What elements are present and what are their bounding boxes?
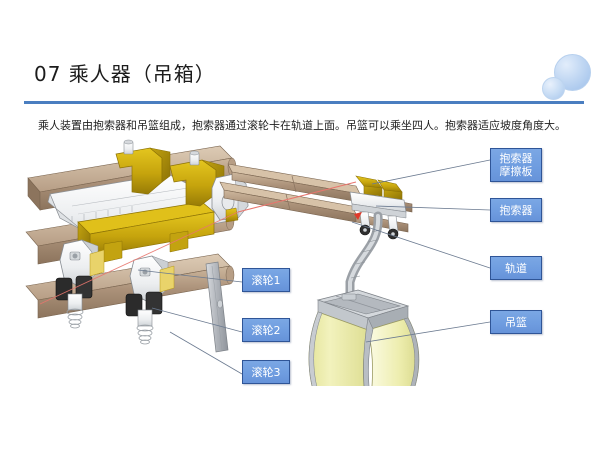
roller-assembly-2 — [126, 256, 168, 344]
roller-assembly-1 — [56, 240, 98, 328]
slide-canvas: 07 乘人器（吊箱） 乘人装置由抱索器和吊篮组成，抱索器通过滚轮卡在轨道上面。吊… — [0, 0, 600, 450]
callout-roller-1[interactable]: 滚轮1 — [242, 268, 290, 292]
callout-track[interactable]: 轨道 — [490, 256, 542, 280]
callout-cabin[interactable]: 吊篮 — [490, 310, 542, 334]
subtitle-text: 乘人装置由抱索器和吊篮组成，抱索器通过滚轮卡在轨道上面。吊篮可以乘坐四人。抱索器… — [38, 118, 566, 133]
callout-roller-2[interactable]: 滚轮2 — [242, 318, 290, 342]
decorative-blue-circle-small-icon — [542, 77, 565, 100]
callout-friction-plate[interactable]: 抱索器 摩擦板 — [490, 148, 542, 182]
page-title: 07 乘人器（吊箱） — [34, 58, 216, 87]
callout-grip[interactable]: 抱索器 — [490, 198, 542, 222]
title-divider — [24, 101, 584, 104]
callout-roller-3[interactable]: 滚轮3 — [242, 360, 290, 384]
gondola-cabin — [309, 290, 419, 386]
technical-illustration — [20, 136, 520, 386]
